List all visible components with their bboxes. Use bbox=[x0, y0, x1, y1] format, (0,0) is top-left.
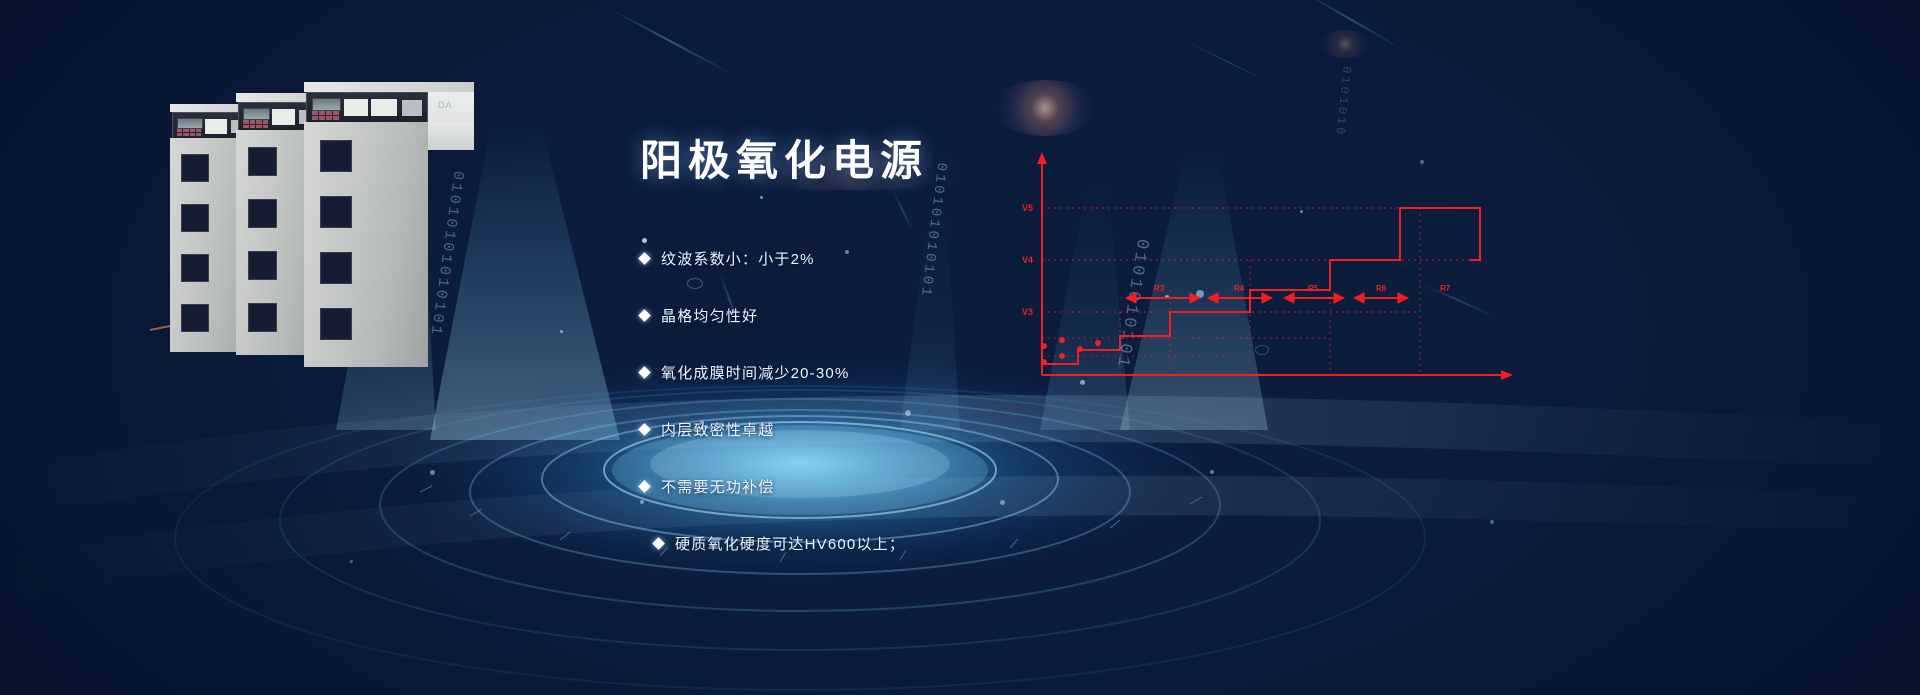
lens-flare-main bbox=[990, 80, 1100, 136]
feature-text: 硬质氧化硬度可达HV600以上； bbox=[675, 533, 905, 554]
x-tick-label: R6 bbox=[1376, 284, 1387, 293]
x-tick-label: R5 bbox=[1308, 284, 1319, 293]
streak-2 bbox=[1298, 0, 1403, 50]
particle bbox=[1210, 470, 1214, 474]
feature-text: 不需要无功补偿 bbox=[661, 476, 774, 497]
equipment-cabinets: DA bbox=[170, 82, 480, 372]
particle bbox=[430, 470, 435, 475]
diamond-marker-icon bbox=[638, 252, 651, 265]
particle bbox=[350, 560, 353, 563]
streak-1 bbox=[608, 7, 733, 74]
x-tick-label: R7 bbox=[1440, 284, 1451, 293]
x-axis-arrow bbox=[1501, 370, 1513, 380]
diamond-marker-icon bbox=[638, 366, 651, 379]
particle bbox=[560, 330, 563, 333]
y-tick-label: V3 bbox=[1022, 307, 1033, 317]
feature-text: 纹波系数小：小于2% bbox=[661, 248, 815, 269]
x-tick-label: R3 bbox=[1154, 284, 1165, 293]
banner-root: 01010101010101 010101010101 0101010101 0… bbox=[0, 0, 1920, 695]
list-item: 不需要无功补偿 bbox=[640, 476, 1200, 497]
y-axis-labels: V5 V4 V3 bbox=[1022, 203, 1033, 317]
streak-3 bbox=[1184, 40, 1265, 80]
diamond-marker-icon bbox=[638, 309, 651, 322]
cabinet-front bbox=[304, 82, 474, 367]
x-axis-labels: R3 R4 R5 R6 R7 bbox=[1154, 284, 1451, 293]
particle bbox=[1490, 520, 1494, 524]
brand-mark: DA bbox=[438, 100, 453, 110]
feature-text: 晶格均匀性好 bbox=[661, 305, 758, 326]
binary-string: 0101010 bbox=[1332, 65, 1353, 137]
cabinet-side-lower bbox=[428, 122, 474, 150]
measurement-arrows bbox=[1126, 293, 1408, 303]
feature-text: 内层致密性卓越 bbox=[661, 419, 774, 440]
diamond-marker-icon bbox=[638, 480, 651, 493]
diamond-marker-icon bbox=[638, 423, 651, 436]
y-axis-arrow bbox=[1037, 152, 1047, 164]
staircase-curve bbox=[1042, 208, 1480, 364]
diamond-marker-icon bbox=[652, 537, 665, 550]
lens-flare-small bbox=[1315, 30, 1375, 58]
schematic-diagram: V5 V4 V3 R3 R4 R5 R6 R7 bbox=[1000, 150, 1520, 400]
y-tick-label: V4 bbox=[1022, 255, 1033, 265]
feature-text: 氧化成膜时间减少20-30% bbox=[661, 362, 850, 383]
y-tick-label: V5 bbox=[1022, 203, 1033, 213]
list-item: 内层致密性卓越 bbox=[640, 419, 1200, 440]
x-tick-label: R4 bbox=[1234, 284, 1245, 293]
list-item: 硬质氧化硬度可达HV600以上； bbox=[654, 533, 1200, 554]
